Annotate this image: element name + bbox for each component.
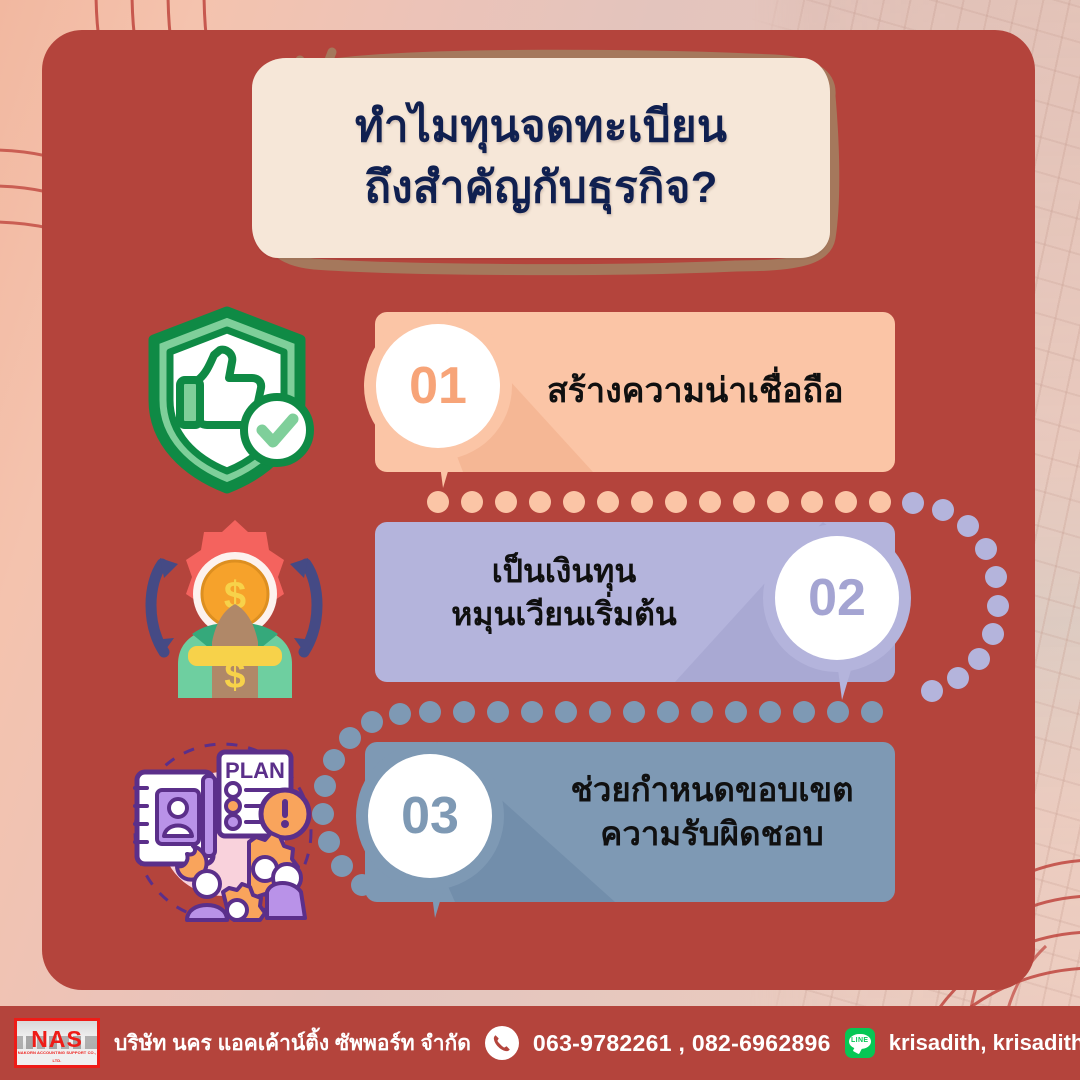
item-label-2-line-1: เป็นเงินทุน [413,550,715,593]
item-label-3-line-2: ความรับผิดชอบ [545,812,879,856]
title-line-2: ถึงสำคัญกับธุรกิจ? [364,158,717,219]
item-number-3: 03 [368,754,492,878]
footer-phone-numbers: 063-9782261 , 082-6962896 [533,1030,831,1057]
plan-checklist-gears-people-icon: PLAN [115,732,325,932]
line-icon[interactable]: LINE [845,1028,875,1058]
item-row-1: สร้างความน่าเชื่อถือ 01 [0,300,1080,500]
item-row-3: PLAN [0,728,1080,938]
item-badge-1[interactable]: 01 [363,300,513,495]
nas-logo: NAS NAKORN ACCOUNTING SUPPORT CO., LTD. [14,1018,100,1068]
svg-text:$: $ [224,655,245,697]
item-badge-3[interactable]: 03 [355,730,505,925]
infographic-stage: ทำไมทุนจดทะเบียน ถึงสำคัญกับธุรกิจ? [0,0,1080,1080]
item-badge-2[interactable]: 02 [762,512,912,707]
line-badge-text: LINE [845,1037,875,1044]
item-row-2: $ $ เป็นเงินทุน หมุนเวียนเริ่มต้น [0,512,1080,712]
title-line-1: ทำไมทุนจดทะเบียน [355,97,727,158]
item-number-1: 01 [376,324,500,448]
gear-coin-money-bag-icon: $ $ [130,512,340,712]
plan-doc-label: PLAN [225,758,285,783]
page-title: ทำไมทุนจดทะเบียน ถึงสำคัญกับธุรกิจ? [252,58,830,258]
item-label-2-line-2: หมุนเวียนเริ่มต้น [413,593,715,636]
title-container: ทำไมทุนจดทะเบียน ถึงสำคัญกับธุรกิจ? [236,44,846,276]
shield-thumbs-up-check-icon [122,300,332,500]
phone-icon[interactable] [485,1026,519,1060]
item-label-3-line-1: ช่วยกำหนดขอบเขต [545,768,879,812]
footer-line-ids: krisadith, krisadithtk [889,1030,1080,1056]
footer-company-name: บริษัท นคร แอคเค้าน์ติ้ง ซัพพอร์ท จำกัด [114,1027,471,1060]
logo-subtitle: NAKORN ACCOUNTING SUPPORT CO., LTD. [17,1049,97,1065]
item-number-2: 02 [775,536,899,660]
footer-bar: NAS NAKORN ACCOUNTING SUPPORT CO., LTD. … [0,1006,1080,1080]
